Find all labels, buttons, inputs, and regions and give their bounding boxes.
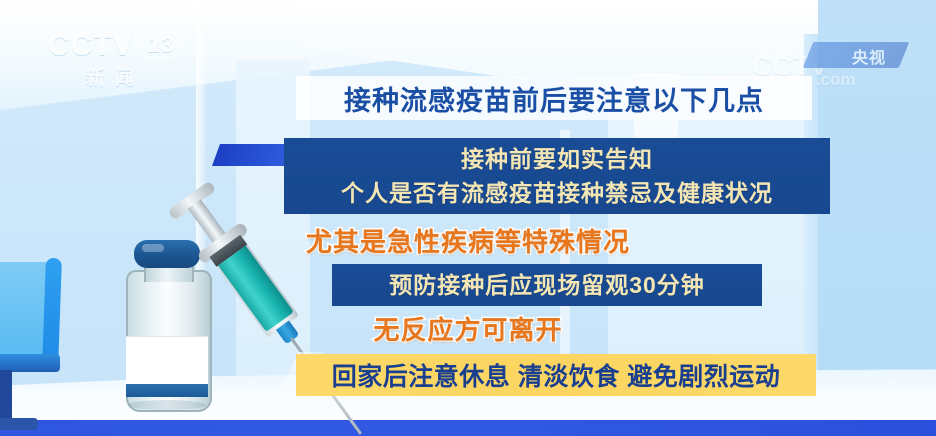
point-1-line-1: 接种前要如实告知 <box>461 142 653 176</box>
point-5-text: 回家后注意休息 清淡饮食 避免剧烈运动 <box>332 357 780 393</box>
infographic-text-stack: 接种流感疫苗前后要注意以下几点 接种前要如实告知 个人是否有流感疫苗接种禁忌及健… <box>0 0 936 436</box>
point-2-row: 尤其是急性疾病等特殊情况 <box>0 222 936 259</box>
point-2-text: 尤其是急性疾病等特殊情况 <box>306 222 630 259</box>
point-3-text: 预防接种后应现场留观30分钟 <box>389 268 705 302</box>
slide-title-band: 接种流感疫苗前后要注意以下几点 <box>296 76 812 120</box>
point-1-line-2: 个人是否有流感疫苗接种禁忌及健康状况 <box>341 176 773 210</box>
page-title: 接种流感疫苗前后要注意以下几点 <box>344 79 764 118</box>
point-5-band: 回家后注意休息 清淡饮食 避免剧烈运动 <box>296 354 816 396</box>
point-4-text: 无反应方可离开 <box>373 310 562 347</box>
point-4-row: 无反应方可离开 <box>0 310 936 347</box>
broadcast-graphic-screen: CCTV13 新闻 CCTV 央视 .com 接种流感疫苗前后要注意以下几点 接… <box>0 0 936 436</box>
point-3-band: 预防接种后应现场留观30分钟 <box>332 264 762 306</box>
point-1-band: 接种前要如实告知 个人是否有流感疫苗接种禁忌及健康状况 <box>284 138 830 214</box>
